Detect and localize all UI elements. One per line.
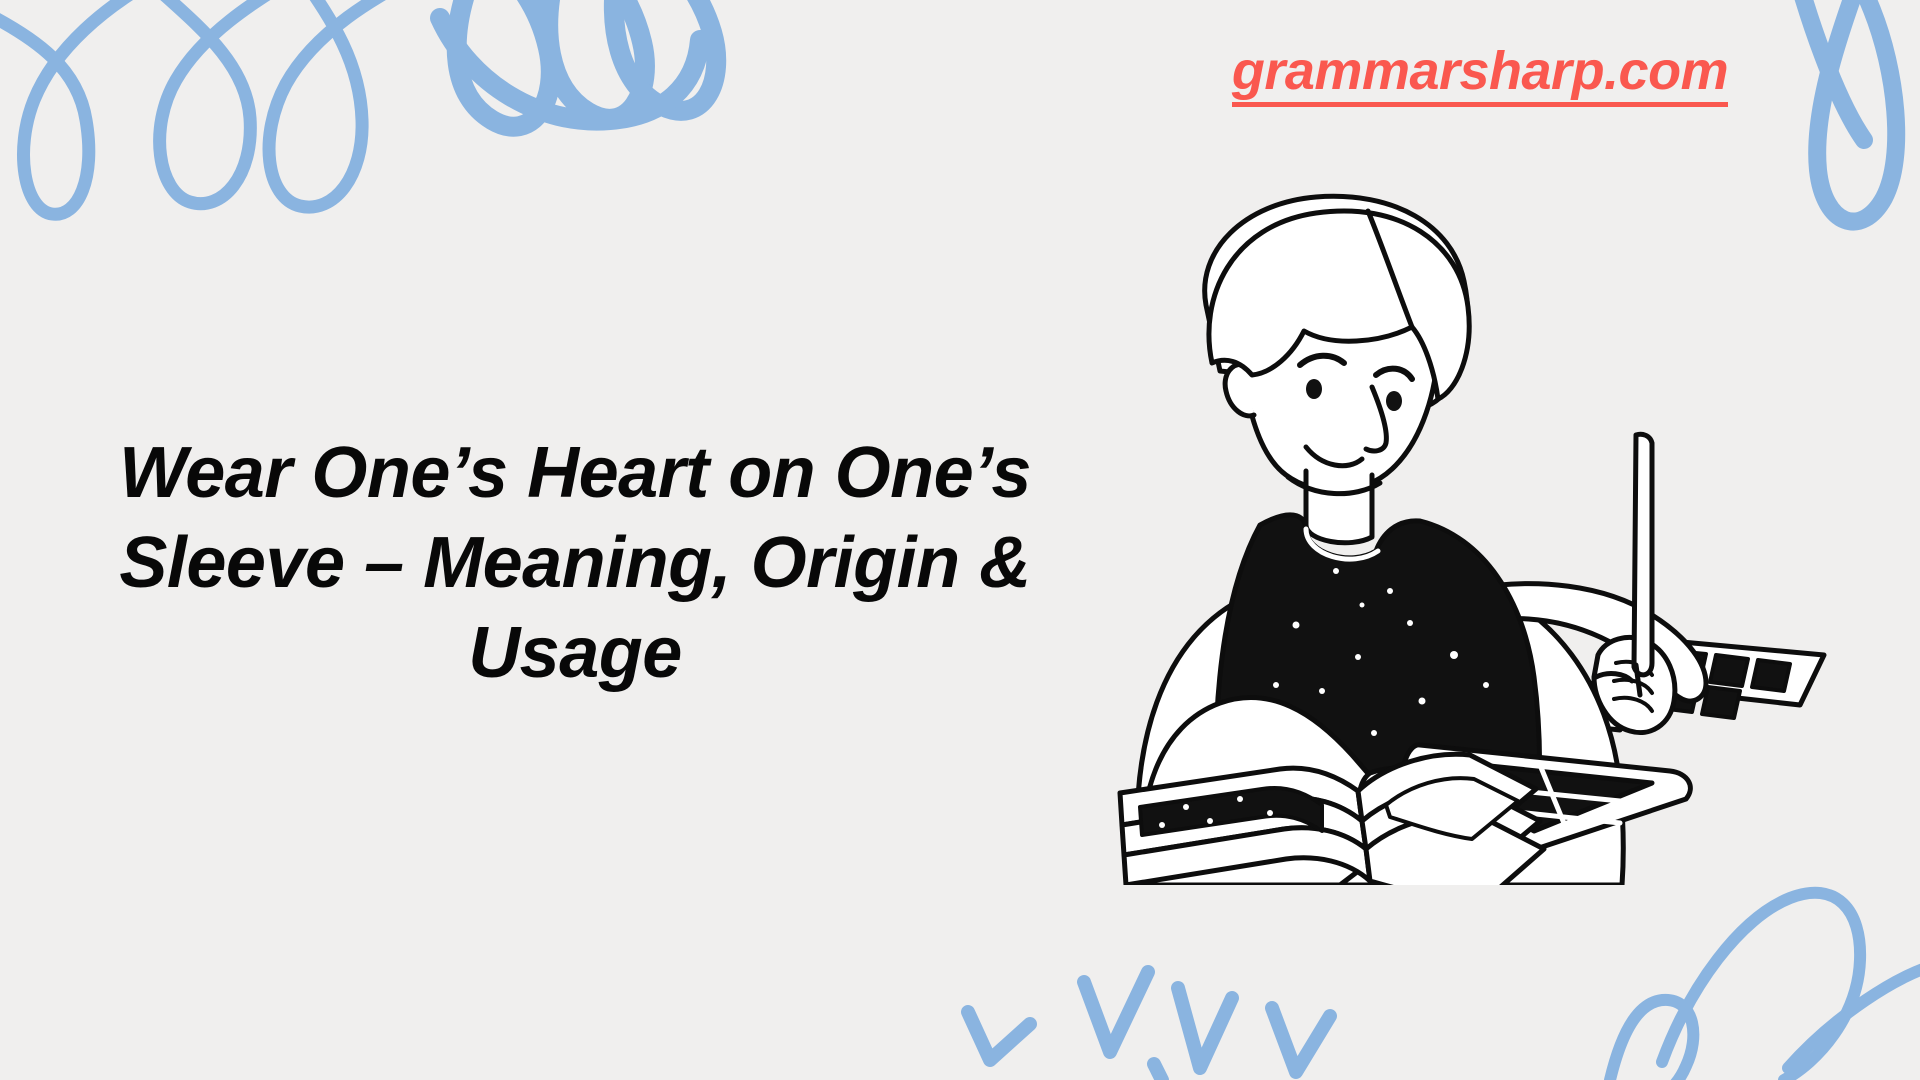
page-title-line-3: Usage <box>60 608 1090 698</box>
page-title-line-1: Wear One’s Heart on One’s <box>60 428 1090 518</box>
poster-canvas: grammarsharp.com Wear One’s Heart on One… <box>0 0 1920 1080</box>
doodle-scribble-top-center <box>440 0 716 127</box>
page-title: Wear One’s Heart on One’s Sleeve – Meani… <box>60 428 1090 698</box>
eye-left <box>1306 379 1322 399</box>
neck <box>1306 471 1372 543</box>
illustration-person-reading-at-desk <box>1100 185 1840 885</box>
site-logo[interactable]: grammarsharp.com <box>1130 40 1830 107</box>
hand-with-pencil <box>1594 434 1675 732</box>
doodle-loops-top-left <box>0 0 412 214</box>
pencil <box>1634 434 1652 675</box>
page-title-line-2: Sleeve – Meaning, Origin & <box>60 518 1090 608</box>
eye-right <box>1386 391 1402 411</box>
doodle-cursive-bottom-right <box>1610 893 1920 1080</box>
site-logo-text: grammarsharp.com <box>1232 43 1728 107</box>
doodle-checkmarks-bottom-center <box>968 972 1330 1080</box>
